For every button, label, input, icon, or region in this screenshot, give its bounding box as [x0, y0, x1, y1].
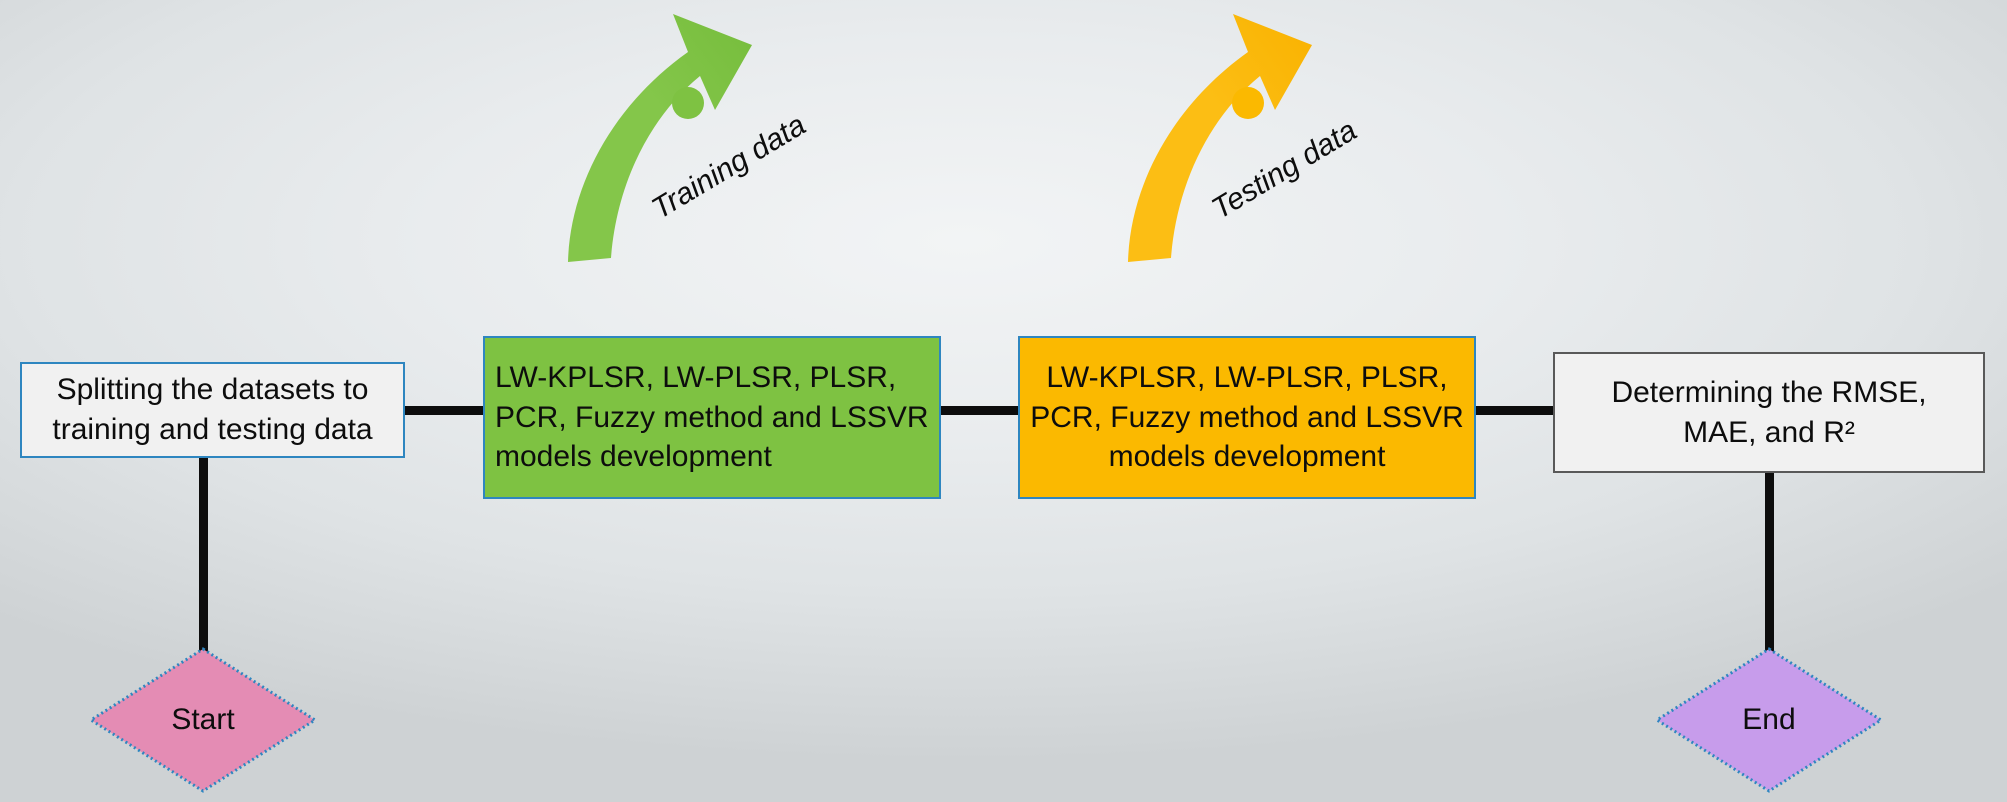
flowchart-canvas: Training data Testing data Splitting the… — [0, 0, 2007, 802]
connector-split-to-training — [398, 406, 491, 415]
node-training-models-label: LW-KPLSR, LW-PLSR, PLSR, PCR, Fuzzy meth… — [485, 358, 939, 478]
connector-metrics-to-end — [1765, 466, 1774, 652]
node-splitting-datasets-label: Splitting the datasets to training and t… — [22, 370, 403, 450]
connector-testing-to-metrics — [1469, 406, 1561, 415]
training-data-arrow — [560, 0, 790, 350]
node-start[interactable]: Start — [88, 646, 318, 794]
testing-arrow-dot — [1232, 87, 1264, 119]
testing-data-label: Testing data — [1206, 114, 1363, 227]
training-data-label: Training data — [646, 108, 812, 226]
node-splitting-datasets[interactable]: Splitting the datasets to training and t… — [20, 362, 405, 458]
node-determining-metrics[interactable]: Determining the RMSE, MAE, and R² — [1553, 352, 1985, 473]
testing-arrow-body — [1128, 14, 1312, 262]
node-end[interactable]: End — [1654, 646, 1884, 794]
node-determining-metrics-label: Determining the RMSE, MAE, and R² — [1555, 373, 1983, 453]
testing-data-arrow — [1120, 0, 1350, 350]
connector-split-to-start — [199, 452, 208, 652]
training-arrow-dot — [672, 87, 704, 119]
training-arrow-body — [568, 14, 752, 262]
node-training-models[interactable]: LW-KPLSR, LW-PLSR, PLSR, PCR, Fuzzy meth… — [483, 336, 941, 499]
node-end-label: End — [1742, 703, 1795, 737]
node-testing-models-label: LW-KPLSR, LW-PLSR, PLSR, PCR, Fuzzy meth… — [1020, 358, 1474, 478]
node-start-label: Start — [171, 703, 234, 737]
connector-training-to-testing — [934, 406, 1026, 415]
node-testing-models[interactable]: LW-KPLSR, LW-PLSR, PLSR, PCR, Fuzzy meth… — [1018, 336, 1476, 499]
